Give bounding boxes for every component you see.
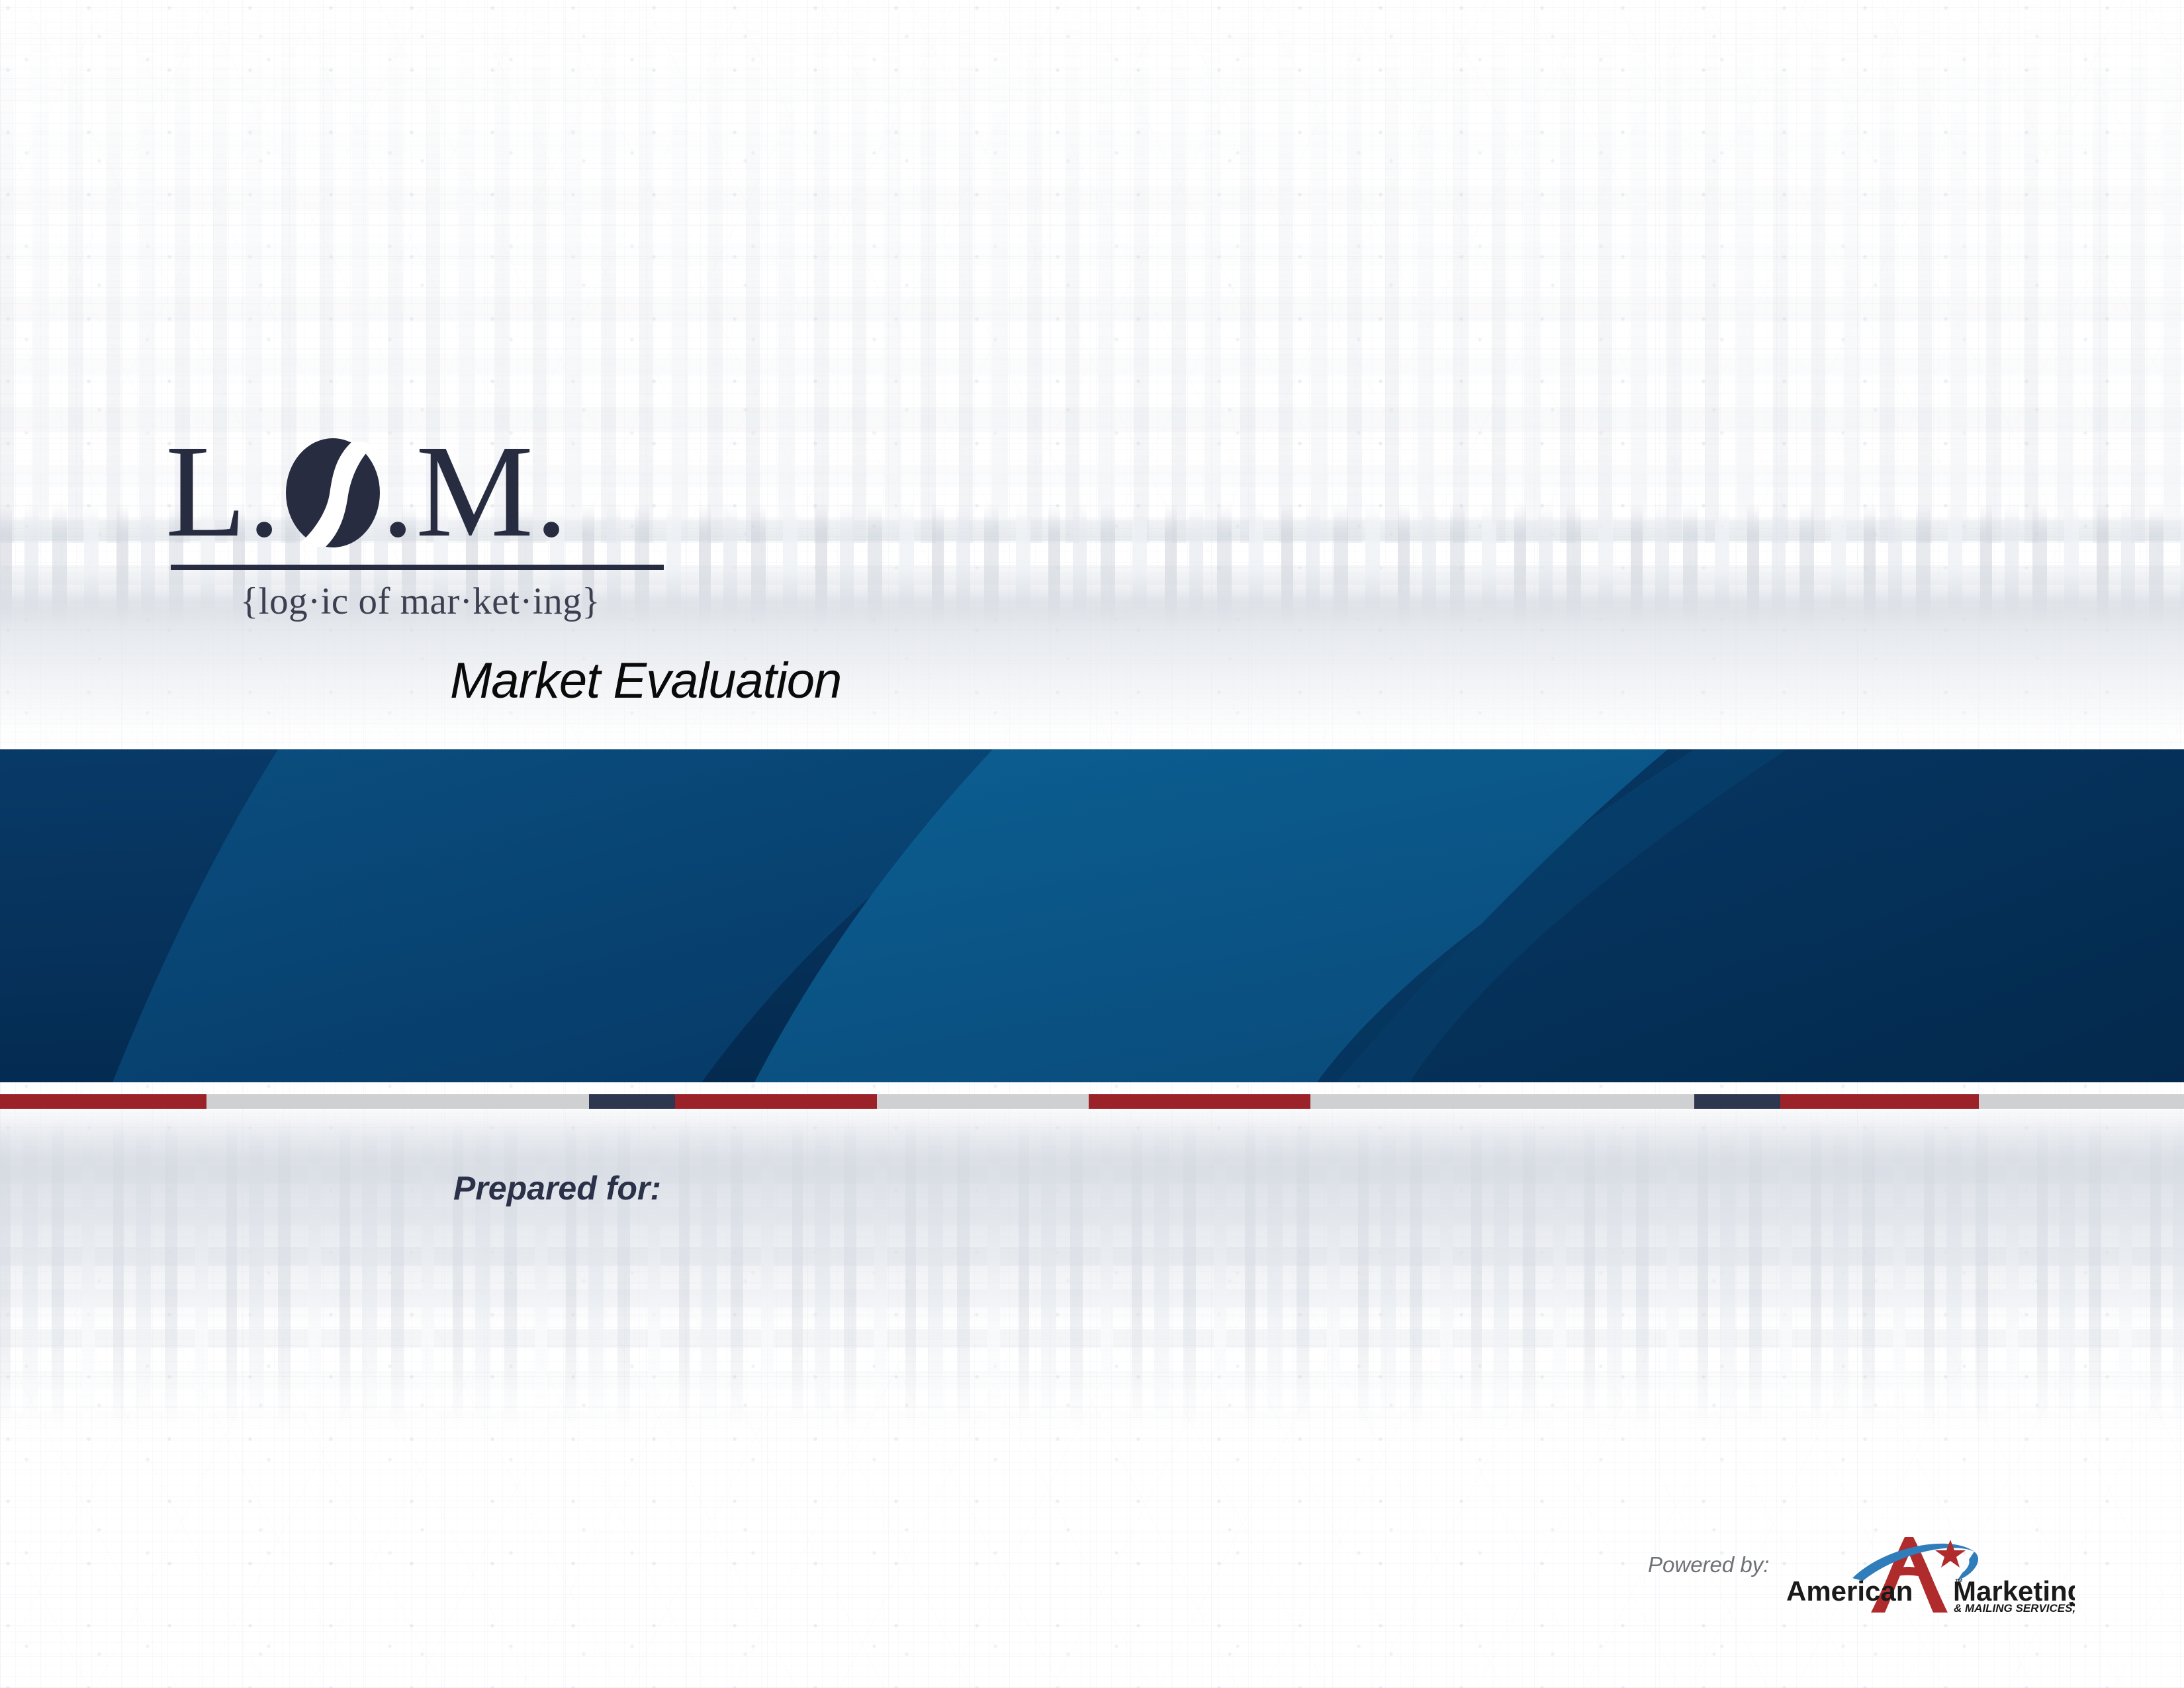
divider-segment [675, 1094, 877, 1109]
american-marketing-logo: American Marketing ™ & MAILING SERVICES,… [1784, 1523, 2075, 1615]
trademark-mark: ™ [1954, 1577, 1963, 1587]
divider-segment [1089, 1094, 1310, 1109]
divider-segment [1979, 1094, 2184, 1109]
lom-logo-tagline: {log·ic of mar·ket·ing} [165, 580, 675, 623]
prepared-for-label: Prepared for: [453, 1169, 661, 1207]
lom-brand-logo: L..M. {log·ic of mar·ket·ing} [165, 424, 675, 629]
lom-logo-wordmark: L..M. [165, 424, 675, 566]
striped-divider [0, 1094, 2184, 1109]
cover-page: L..M. {log·ic of mar·ket·ing} Market Eva… [0, 0, 2184, 1688]
divider-segment [1780, 1094, 1979, 1109]
divider-segment [589, 1094, 675, 1109]
divider-segment [0, 1094, 206, 1109]
lom-logo-underline [171, 565, 664, 570]
powered-by-label: Powered by: [1648, 1552, 1769, 1577]
coffee-bean-swoosh-icon [286, 436, 380, 545]
partner-subtitle: & MAILING SERVICES, INC. [1954, 1602, 2075, 1615]
divider-segment [877, 1094, 1089, 1109]
lom-logo-letters-before: L. [165, 424, 282, 560]
divider-segment [1310, 1094, 1694, 1109]
partner-word-one: American [1786, 1575, 1913, 1607]
footer-grey-wash [0, 1109, 2184, 1338]
page-title: Market Evaluation [450, 652, 841, 710]
divider-segment [1694, 1094, 1780, 1109]
divider-segment [206, 1094, 589, 1109]
lom-logo-letters-after: .M. [381, 424, 569, 560]
blue-accent-band [0, 749, 2184, 1082]
pixel-mosaic-lower [0, 1119, 2184, 1430]
